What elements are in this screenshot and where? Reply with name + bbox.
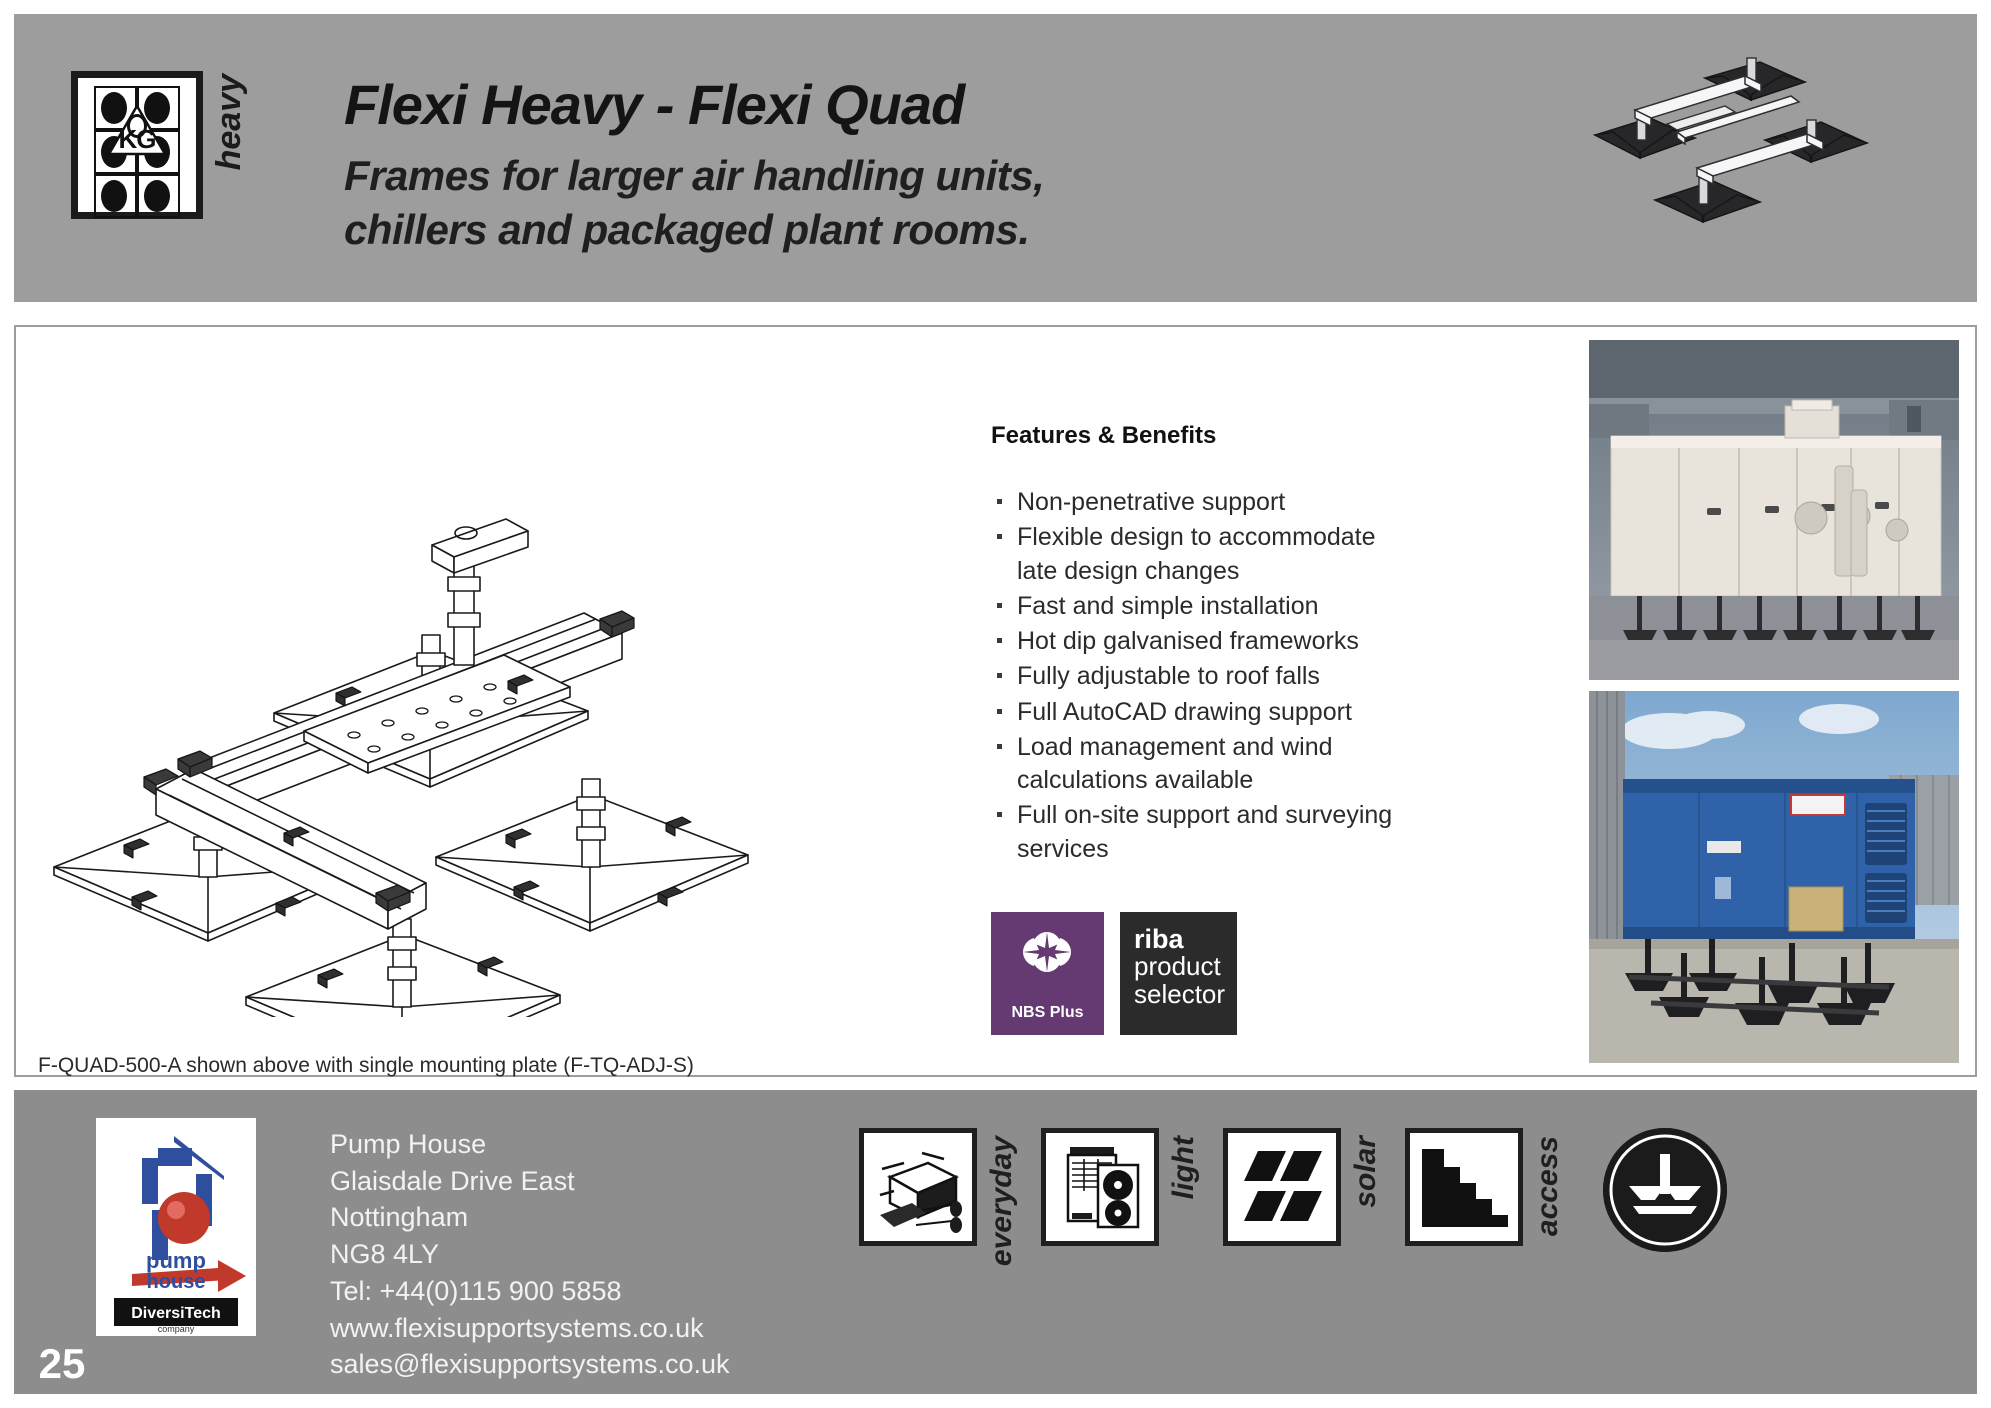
address-telephone: Tel: +44(0)115 900 5858	[330, 1273, 730, 1310]
page-number: 25	[28, 1334, 96, 1394]
category-tab-heavy: heavy	[210, 74, 249, 170]
svg-text:DiversiTech: DiversiTech	[131, 1305, 221, 1322]
page-subtitle: Frames for larger air handling units, ch…	[344, 149, 1044, 257]
accreditation-logos: NBS Plus riba product selector	[991, 912, 1237, 1035]
feature-item: Full on-site support and surveying servi…	[991, 799, 1411, 866]
flexi-support-emblem-icon[interactable]	[1603, 1128, 1727, 1252]
feature-item: Fully adjustable to roof falls	[991, 660, 1411, 693]
heavy-load-kg-icon: KG	[71, 71, 203, 219]
category-icon-row: everyday	[859, 1128, 1727, 1266]
feature-item: Load management and wind calculations av…	[991, 731, 1411, 798]
riba-line-3: selector	[1134, 981, 1237, 1009]
features-section: Features & Benefits Non-penetrative supp…	[991, 422, 1411, 868]
page-subtitle-line2: chillers and packaged plant rooms.	[344, 203, 1044, 257]
air-handling-unit-photo	[1589, 340, 1959, 680]
category-solar[interactable]: solar	[1223, 1128, 1383, 1246]
pump-house-logo-mark: pump house DiversiTech company	[96, 1118, 256, 1336]
datasheet-page: KG heavy Flexi Heavy - Flexi Quad Frames…	[0, 0, 1991, 1408]
category-label-everyday: everyday	[985, 1136, 1019, 1266]
address-line: Pump House	[330, 1126, 730, 1163]
nbs-plus-logo[interactable]: NBS Plus	[991, 912, 1104, 1035]
category-label-access: access	[1531, 1136, 1565, 1236]
nbs-pinwheel-icon	[991, 912, 1104, 992]
address-line: Nottingham	[330, 1199, 730, 1236]
page-header: KG heavy Flexi Heavy - Flexi Quad Frames…	[14, 14, 1977, 302]
svg-text:company: company	[158, 1324, 195, 1334]
flexi-quad-isometric-drawing	[36, 337, 936, 1017]
category-access[interactable]: access	[1405, 1128, 1565, 1246]
svg-text:house: house	[147, 1271, 206, 1293]
pump-house-logo[interactable]: pump house DiversiTech company	[96, 1118, 256, 1336]
page-title: Flexi Heavy - Flexi Quad	[344, 72, 964, 137]
condenser-unit-icon	[1041, 1128, 1159, 1246]
company-address: Pump House Glaisdale Drive East Nottingh…	[330, 1126, 730, 1383]
category-everyday[interactable]: everyday	[859, 1128, 1019, 1266]
feature-item: Hot dip galvanised frameworks	[991, 625, 1411, 658]
feature-item: Full AutoCAD drawing support	[991, 696, 1411, 729]
riba-product-selector-logo[interactable]: riba product selector	[1120, 912, 1237, 1035]
page-subtitle-line1: Frames for larger air handling units,	[344, 149, 1044, 203]
address-email[interactable]: sales@flexisupportsystems.co.uk	[330, 1346, 730, 1383]
blue-generator-photo	[1589, 691, 1959, 1063]
address-postcode: NG8 4LY	[330, 1236, 730, 1273]
flexi-quad-frame-render	[1555, 40, 1905, 270]
feature-item: Non-penetrative support	[991, 486, 1411, 519]
step-over-access-icon	[1405, 1128, 1523, 1246]
category-label-light: light	[1167, 1136, 1201, 1199]
category-light[interactable]: light	[1041, 1128, 1201, 1246]
feature-item: Flexible design to accommodate late desi…	[991, 521, 1411, 588]
ductwork-pipe-icon	[859, 1128, 977, 1246]
solar-panel-icon	[1223, 1128, 1341, 1246]
feature-item: Fast and simple installation	[991, 590, 1411, 623]
nbs-plus-label: NBS Plus	[991, 1004, 1104, 1022]
kg-badge-text: KG	[119, 124, 156, 155]
riba-line-2: product	[1134, 953, 1237, 981]
riba-line-1: riba	[1134, 926, 1237, 953]
features-heading: Features & Benefits	[991, 422, 1411, 450]
svg-text:pump: pump	[146, 1248, 206, 1273]
address-website[interactable]: www.flexisupportsystems.co.uk	[330, 1310, 730, 1347]
main-content-panel: F-QUAD-500-A shown above with single mou…	[14, 325, 1977, 1077]
category-label-solar: solar	[1349, 1136, 1383, 1208]
page-footer: pump house DiversiTech company Pump Hous…	[14, 1090, 1977, 1394]
drawing-caption: F-QUAD-500-A shown above with single mou…	[38, 1054, 694, 1078]
address-line: Glaisdale Drive East	[330, 1163, 730, 1200]
features-list: Non-penetrative support Flexible design …	[991, 486, 1411, 866]
